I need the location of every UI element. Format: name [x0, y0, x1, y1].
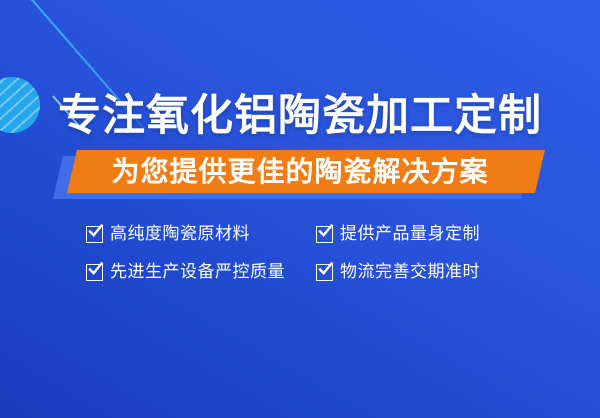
- checkbox-checked-icon: [86, 226, 103, 243]
- feature-label: 高纯度陶瓷原材料: [110, 224, 250, 244]
- feature-list: 高纯度陶瓷原材料 提供产品量身定制 先进生产设备严控质量: [86, 224, 556, 300]
- feature-item: 提供产品量身定制: [316, 224, 546, 244]
- feature-label: 提供产品量身定制: [340, 224, 480, 244]
- feature-label: 先进生产设备严控质量: [110, 262, 285, 282]
- checkbox-checked-icon: [316, 264, 333, 281]
- feature-label: 物流完善交期准时: [340, 262, 480, 282]
- subheadline-banner: 为您提供更佳的陶瓷解决方案: [0, 150, 600, 206]
- feature-item: 先进生产设备严控质量: [86, 262, 316, 282]
- checkbox-checked-icon: [86, 264, 103, 281]
- checkbox-checked-icon: [316, 226, 333, 243]
- banner-subheadline: 为您提供更佳的陶瓷解决方案: [0, 150, 600, 193]
- feature-item: 高纯度陶瓷原材料: [86, 224, 316, 244]
- feature-item: 物流完善交期准时: [316, 262, 546, 282]
- banner-headline: 专注氧化铝陶瓷加工定制: [0, 88, 600, 144]
- feature-row: 先进生产设备严控质量 物流完善交期准时: [86, 262, 556, 282]
- feature-row: 高纯度陶瓷原材料 提供产品量身定制: [86, 224, 556, 244]
- promo-banner: 专注氧化铝陶瓷加工定制 为您提供更佳的陶瓷解决方案 高纯度陶瓷原材料: [0, 0, 600, 418]
